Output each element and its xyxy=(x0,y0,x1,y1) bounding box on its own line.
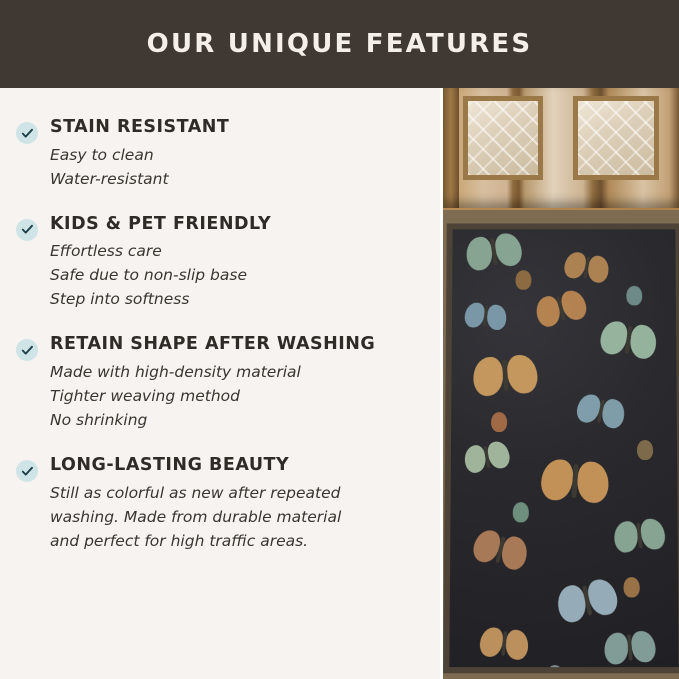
door-glass-panel xyxy=(463,96,543,180)
feature-line: Effortless care xyxy=(50,239,422,263)
list-item: RETAIN SHAPE AFTER WASHING Made with hig… xyxy=(16,333,422,432)
feature-text-block: KIDS & PET FRIENDLY Effortless care Safe… xyxy=(50,213,422,312)
poster-header: OUR UNIQUE FEATURES xyxy=(0,0,679,88)
list-item: KIDS & PET FRIENDLY Effortless care Safe… xyxy=(16,213,422,312)
moth-motif xyxy=(463,440,512,475)
moth-motif xyxy=(472,354,539,397)
rug-field xyxy=(449,229,678,667)
moth-motif xyxy=(563,250,611,284)
feature-title: RETAIN SHAPE AFTER WASHING xyxy=(50,333,422,357)
moth-motif xyxy=(599,319,659,360)
door-glass-panel xyxy=(573,96,659,180)
glass-texture xyxy=(578,101,654,175)
feature-line: No shrinking xyxy=(50,408,422,432)
list-item: LONG-LASTING BEAUTY Still as colorful as… xyxy=(16,454,422,553)
moth-motif xyxy=(464,232,523,272)
beetle-motif xyxy=(491,412,507,432)
feature-text-block: LONG-LASTING BEAUTY Still as colorful as… xyxy=(50,454,422,553)
feature-poster: OUR UNIQUE FEATURES STAIN RESISTANT Easy… xyxy=(0,0,679,679)
moth-motif xyxy=(603,630,656,665)
poster-body: STAIN RESISTANT Easy to clean Water-resi… xyxy=(0,88,679,679)
page-title: OUR UNIQUE FEATURES xyxy=(147,29,533,59)
rug-on-wood-floor-photo xyxy=(443,88,679,679)
feature-line: Step into softness xyxy=(50,287,422,311)
moth-motif xyxy=(575,392,627,430)
feature-line: Tighter weaving method xyxy=(50,384,422,408)
moth-motif xyxy=(533,288,589,329)
moth-motif xyxy=(540,458,610,504)
beetle-motif xyxy=(513,502,529,522)
feature-line: Still as colorful as new after repeated xyxy=(50,481,422,505)
moth-motif xyxy=(554,576,620,624)
wooden-door xyxy=(443,88,679,208)
feature-text-block: STAIN RESISTANT Easy to clean Water-resi… xyxy=(50,116,422,191)
feature-title: KIDS & PET FRIENDLY xyxy=(50,213,422,237)
beetle-motif xyxy=(516,270,532,290)
feature-line: washing. Made from durable material xyxy=(50,505,422,529)
feature-line: Easy to clean xyxy=(50,143,422,167)
feature-line: Made with high-density material xyxy=(50,360,422,384)
check-circle-icon xyxy=(16,122,38,144)
feature-text-block: RETAIN SHAPE AFTER WASHING Made with hig… xyxy=(50,333,422,432)
feature-title: STAIN RESISTANT xyxy=(50,116,422,140)
glass-texture xyxy=(468,101,538,175)
feature-title: LONG-LASTING BEAUTY xyxy=(50,454,422,478)
feature-line: Water-resistant xyxy=(50,167,422,191)
features-list: STAIN RESISTANT Easy to clean Water-resi… xyxy=(0,88,440,679)
check-circle-icon xyxy=(16,219,38,241)
moth-motif xyxy=(471,527,531,572)
beetle-motif xyxy=(637,440,653,460)
beetle-motif xyxy=(624,577,640,597)
beetle-motif xyxy=(626,286,642,306)
moth-motif xyxy=(464,302,508,331)
check-circle-icon xyxy=(16,339,38,361)
moth-motif xyxy=(613,517,667,553)
beetle-motif xyxy=(547,665,563,667)
area-rug xyxy=(443,210,679,679)
moth-motif xyxy=(479,626,530,661)
feature-line: and perfect for high traffic areas. xyxy=(50,529,422,553)
list-item: STAIN RESISTANT Easy to clean Water-resi… xyxy=(16,116,422,191)
check-circle-icon xyxy=(16,460,38,482)
feature-line: Safe due to non-slip base xyxy=(50,263,422,287)
